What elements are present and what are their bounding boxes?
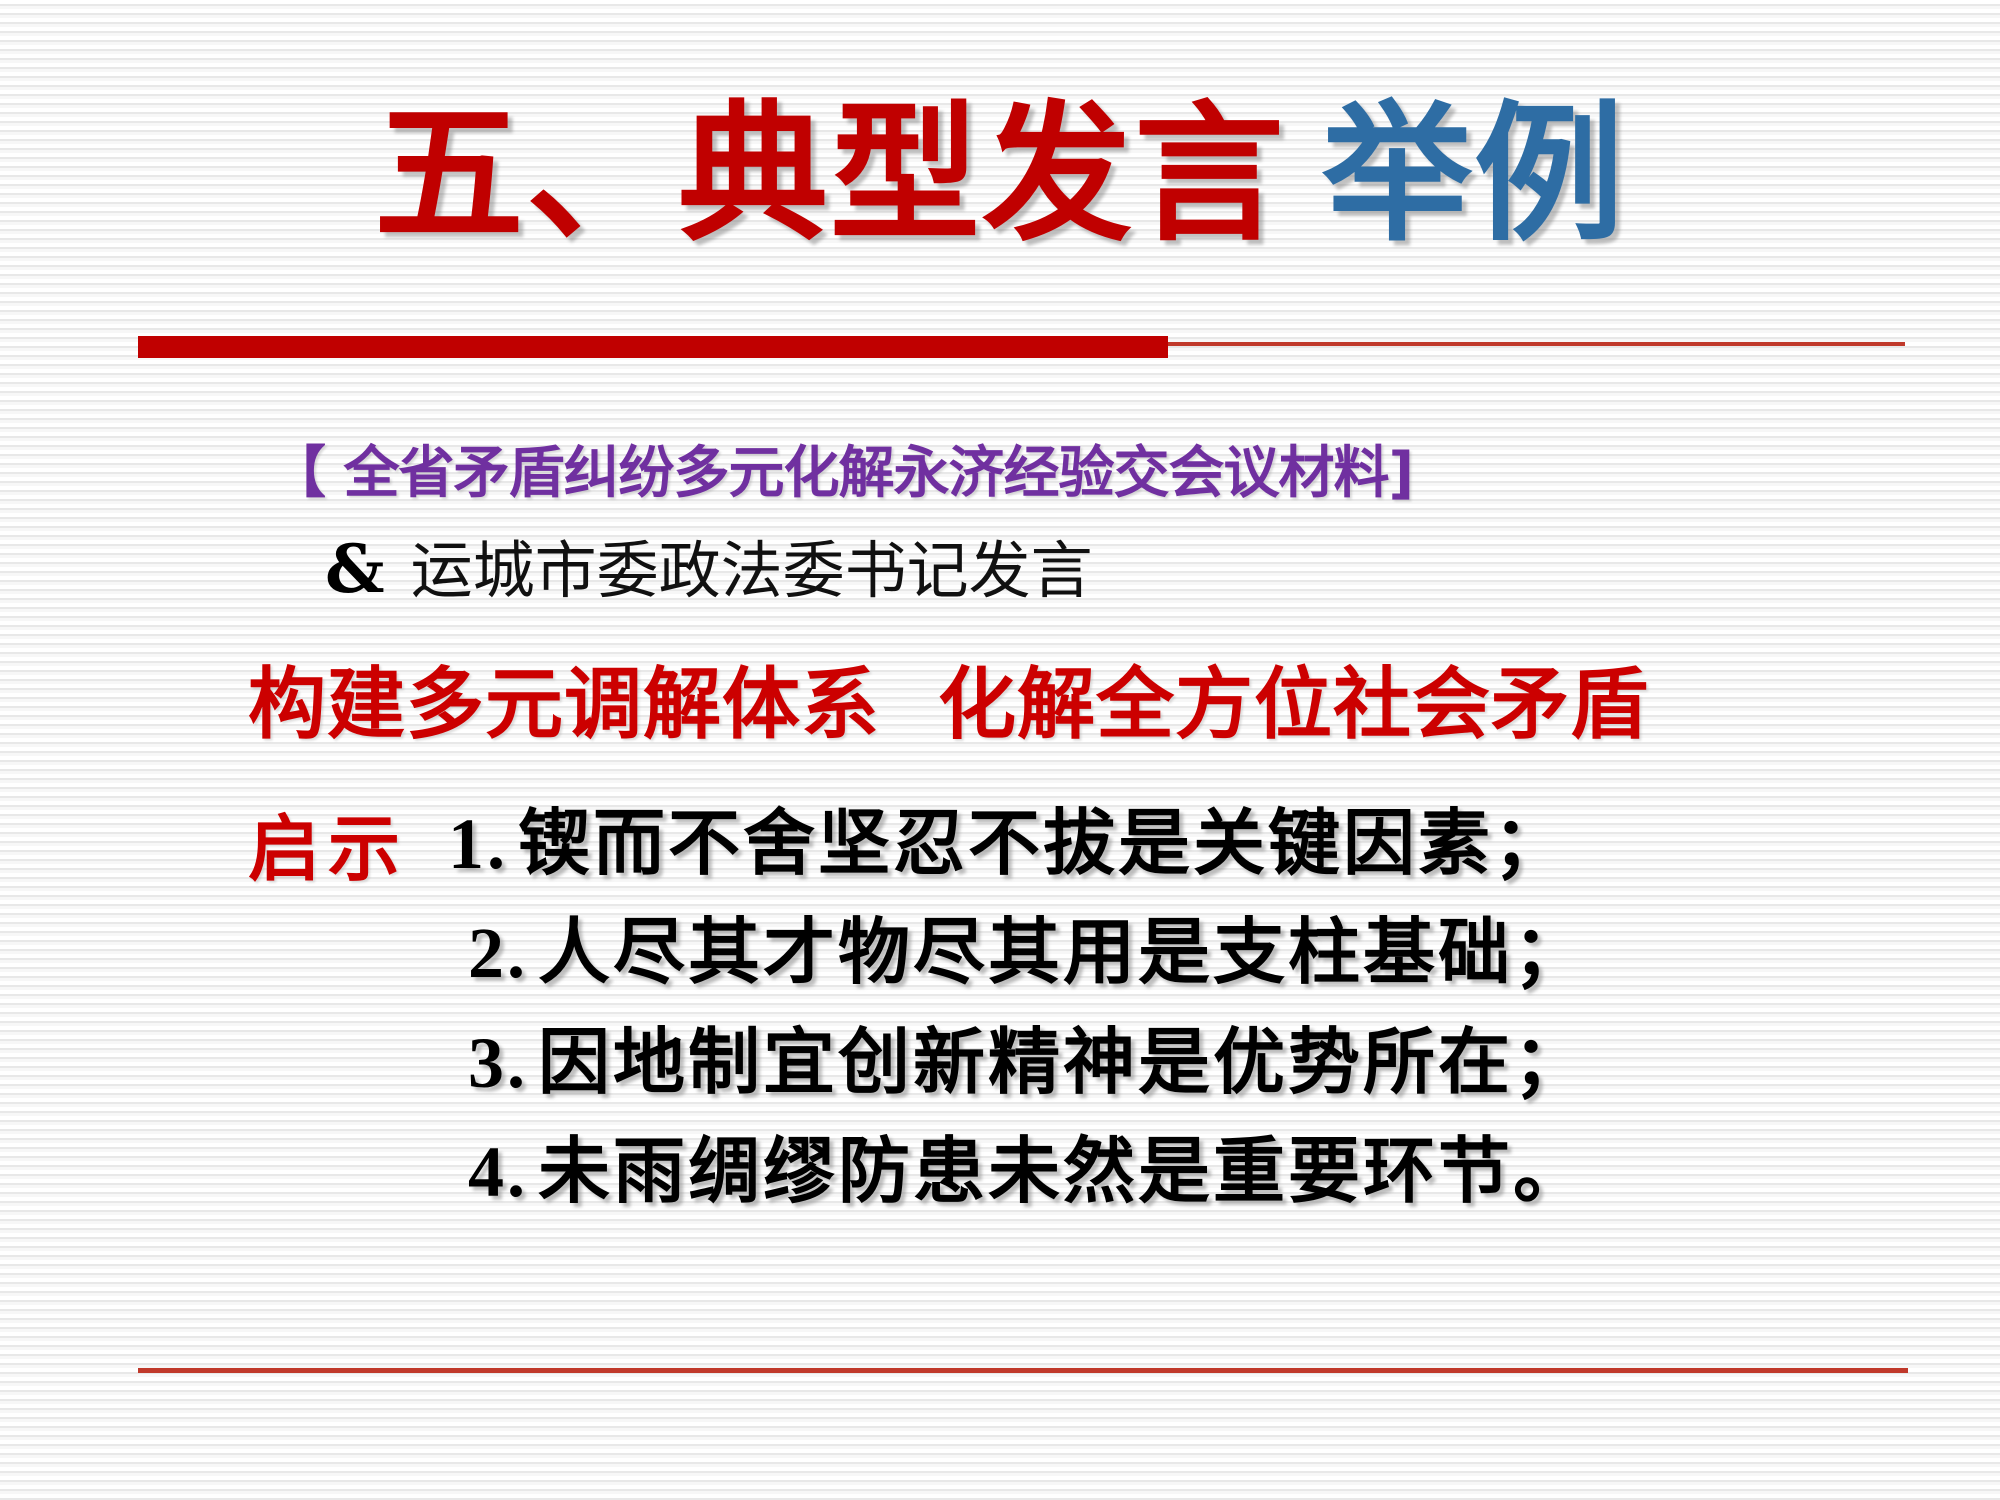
slogan-line: 构建多元调解体系化解全方位社会矛盾 xyxy=(248,642,1649,754)
bottom-rule xyxy=(138,1368,1908,1373)
list-item-text: 因地制宜创新精神是优势所在； xyxy=(538,1023,1588,1103)
list-item-text: 人尽其才物尽其用是支柱基础； xyxy=(538,913,1588,993)
list-item-number: 3. xyxy=(468,1023,528,1103)
list-item: 2.人尽其才物尽其用是支柱基础； xyxy=(468,899,1848,1008)
slogan-right: 化解全方位社会矛盾 xyxy=(938,661,1649,748)
title-red-segment: 五、典型发言 xyxy=(374,100,1286,250)
enlightenment-label: 启示 xyxy=(248,790,408,895)
list-item-number: 2. xyxy=(468,913,528,993)
title-blue-segment: 举例 xyxy=(1322,100,1626,250)
speaker-line: &运城市委政法委书记发言 xyxy=(325,520,1093,610)
list-item-text: 锲而不舍坚忍不拔是关键因素； xyxy=(518,804,1568,884)
list-item: 4.未雨绸缪防患未然是重要环节。 xyxy=(468,1118,1848,1227)
ampersand-bullet-icon: & xyxy=(325,530,385,608)
list-item: 1.锲而不舍坚忍不拔是关键因素； xyxy=(448,790,1848,899)
title-divider-thick xyxy=(138,336,1168,358)
enlightenment-list: 1.锲而不舍坚忍不拔是关键因素； 2.人尽其才物尽其用是支柱基础； 3.因地制宜… xyxy=(448,790,1848,1228)
list-item-number: 4. xyxy=(468,1132,528,1212)
title-divider-thin xyxy=(1168,342,1905,346)
list-item-number: 1. xyxy=(448,804,508,884)
page-title: 五、典型发言举例 xyxy=(0,100,2000,250)
list-item: 3.因地制宜创新精神是优势所在； xyxy=(468,1009,1848,1118)
list-item-text: 未雨绸缪防患未然是重要环节。 xyxy=(538,1132,1588,1212)
speaker-label: 运城市委政法委书记发言 xyxy=(411,538,1093,606)
slogan-left: 构建多元调解体系 xyxy=(248,661,880,748)
slide-canvas: 五、典型发言举例 【 全省矛盾纠纷多元化解永济经验交会议材料] &运城市委政法委… xyxy=(0,0,2000,1500)
document-source-heading: 【 全省矛盾纠纷多元化解永济经验交会议材料] xyxy=(270,428,1670,509)
